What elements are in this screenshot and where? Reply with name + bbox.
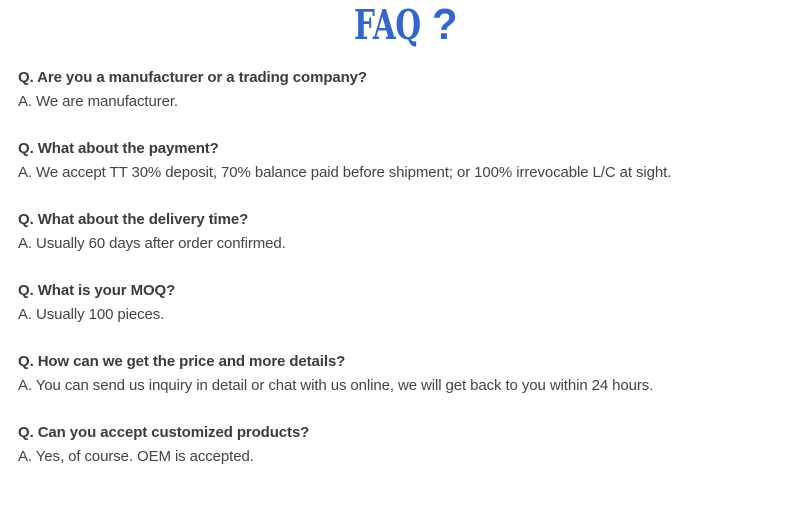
faq-answer: A. You can send us inquiry in detail or … [18,374,790,398]
faq-question: Q. What about the payment? [18,137,790,161]
question-mark-icon: ? [432,2,458,48]
faq-question: Q. What about the delivery time? [18,208,790,232]
faq-item: Q. What about the delivery time? A. Usua… [18,208,790,256]
faq-question: Q. Can you accept customized products? [18,421,790,445]
faq-item: Q. Are you a manufacturer or a trading c… [18,66,790,114]
faq-item: Q. How can we get the price and more det… [18,350,790,398]
page-title: FAQ [354,2,421,48]
faq-item: Q. What is your MOQ? A. Usually 100 piec… [18,279,790,327]
faq-answer: A. Usually 100 pieces. [18,303,790,327]
faq-answer: A. We are manufacturer. [18,90,790,114]
faq-question: Q. What is your MOQ? [18,279,790,303]
faq-item: Q. What about the payment? A. We accept … [18,137,790,185]
faq-page: FAQ? Q. Are you a manufacturer or a trad… [0,0,800,525]
faq-answer: A. Yes, of course. OEM is accepted. [18,445,790,469]
faq-item: Q. Can you accept customized products? A… [18,421,790,469]
faq-question: Q. How can we get the price and more det… [18,350,790,374]
faq-answer: A. Usually 60 days after order confirmed… [18,232,790,256]
faq-question: Q. Are you a manufacturer or a trading c… [18,66,790,90]
faq-list: Q. Are you a manufacturer or a trading c… [0,56,800,469]
faq-title-bar: FAQ? [0,0,800,56]
faq-answer: A. We accept TT 30% deposit, 70% balance… [18,161,790,185]
